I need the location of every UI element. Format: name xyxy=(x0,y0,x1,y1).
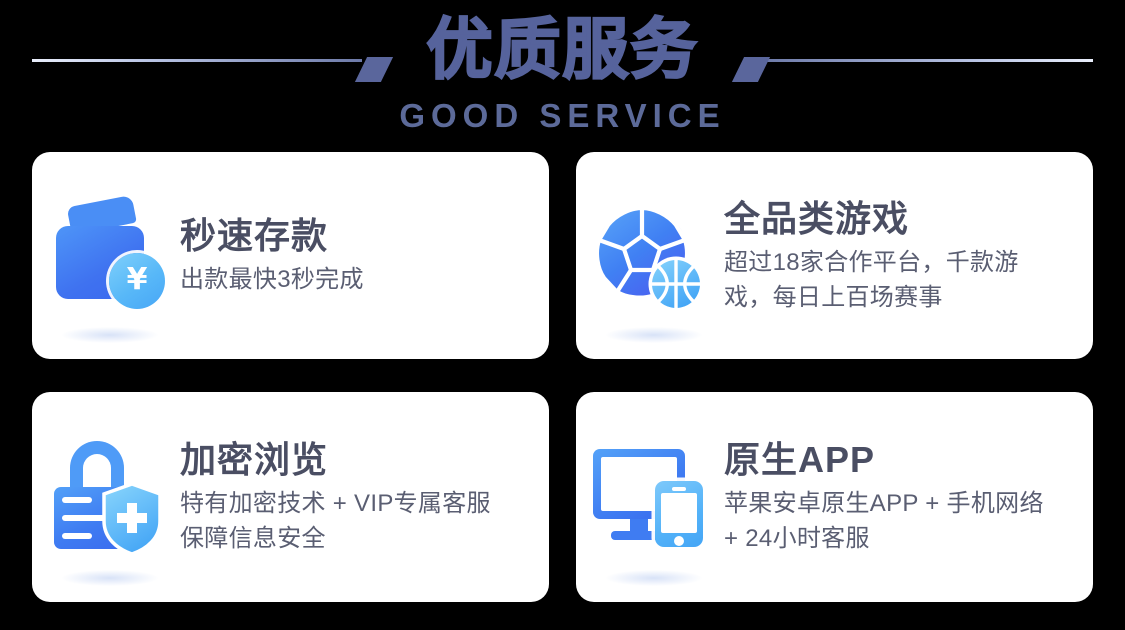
yen-symbol: ¥ xyxy=(127,265,148,295)
icon-shadow xyxy=(62,570,158,586)
banner-header: 优质服务 GOOD SERVICE xyxy=(0,0,1125,140)
feature-card-all-games[interactable]: 全品类游戏 超过18家合作平台，千款游戏，每日上百场赛事 xyxy=(576,152,1093,359)
wallet-yen-icon: ¥ xyxy=(50,200,162,312)
card-icon-slot xyxy=(576,152,724,359)
lock-slot-1 xyxy=(62,497,92,503)
card-icon-slot xyxy=(32,392,180,602)
card-subtitle: 特有加密技术 + VIP专属客服保障信息安全 xyxy=(180,486,510,556)
card-title: 加密浏览 xyxy=(180,438,510,482)
promo-banner: 优质服务 GOOD SERVICE ¥ 秒速存款 出款最快3秒完成 xyxy=(0,0,1125,630)
card-subtitle: 超过18家合作平台，千款游戏，每日上百场赛事 xyxy=(724,245,1054,315)
card-text-block: 全品类游戏 超过18家合作平台，千款游戏，每日上百场赛事 xyxy=(724,197,1070,315)
card-text-block: 加密浏览 特有加密技术 + VIP专属客服保障信息安全 xyxy=(180,438,526,556)
card-title: 原生APP xyxy=(724,438,1054,482)
phone-screen xyxy=(661,493,697,533)
feature-card-encrypted-browsing[interactable]: 加密浏览 特有加密技术 + VIP专属客服保障信息安全 xyxy=(32,392,549,602)
ball-svg xyxy=(592,200,708,312)
icon-shadow xyxy=(62,327,158,343)
card-title: 全品类游戏 xyxy=(724,197,1054,241)
yen-coin-icon: ¥ xyxy=(109,253,165,309)
lock-slot-3 xyxy=(62,533,92,539)
icon-shadow xyxy=(606,327,702,343)
card-icon-slot: ¥ xyxy=(32,152,180,359)
card-text-block: 秒速存款 出款最快3秒完成 xyxy=(180,214,380,297)
monitor-phone-icon xyxy=(591,447,709,547)
icon-shadow xyxy=(606,570,702,586)
card-title: 秒速存款 xyxy=(180,214,364,258)
phone-speaker xyxy=(672,487,686,491)
feature-card-instant-deposit[interactable]: ¥ 秒速存款 出款最快3秒完成 xyxy=(32,152,549,359)
page-title: 优质服务 xyxy=(0,8,1125,92)
card-subtitle: 苹果安卓原生APP + 手机网络 + 24小时客服 xyxy=(724,486,1054,556)
lock-shield-icon xyxy=(50,439,162,555)
card-icon-slot xyxy=(576,392,724,602)
phone-home-button xyxy=(674,536,684,546)
card-subtitle: 出款最快3秒完成 xyxy=(180,262,364,297)
shield-plus-icon xyxy=(102,483,162,555)
soccer-basketball-icon xyxy=(592,200,708,312)
feature-card-grid: ¥ 秒速存款 出款最快3秒完成 xyxy=(32,152,1093,602)
page-subtitle: GOOD SERVICE xyxy=(0,98,1125,134)
feature-card-native-app[interactable]: 原生APP 苹果安卓原生APP + 手机网络 + 24小时客服 xyxy=(576,392,1093,602)
card-text-block: 原生APP 苹果安卓原生APP + 手机网络 + 24小时客服 xyxy=(724,438,1070,556)
phone-shape xyxy=(655,481,703,547)
